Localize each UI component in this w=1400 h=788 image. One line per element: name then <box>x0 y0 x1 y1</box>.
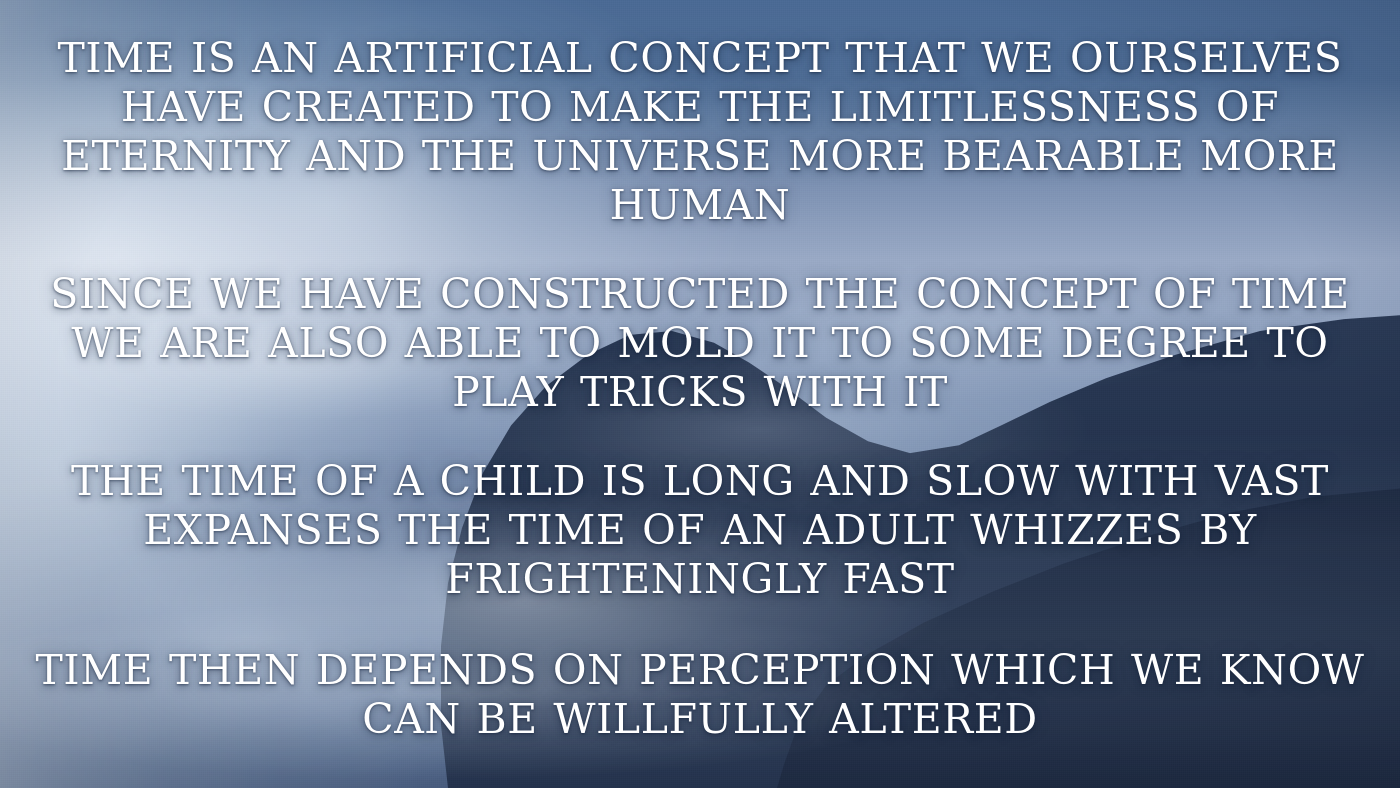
image-canvas: Time is an artificial concept that we ou… <box>0 0 1400 788</box>
quote-text-overlay: Time is an artificial concept that we ou… <box>0 0 1400 788</box>
quote-paragraph-2: Since we have constructed the concept of… <box>22 270 1378 417</box>
quote-paragraph-1: Time is an artificial concept that we ou… <box>22 34 1378 230</box>
quote-paragraph-3: The time of a child is long and slow wit… <box>22 457 1378 604</box>
quote-paragraph-4: Time then depends on perception which we… <box>22 646 1378 744</box>
